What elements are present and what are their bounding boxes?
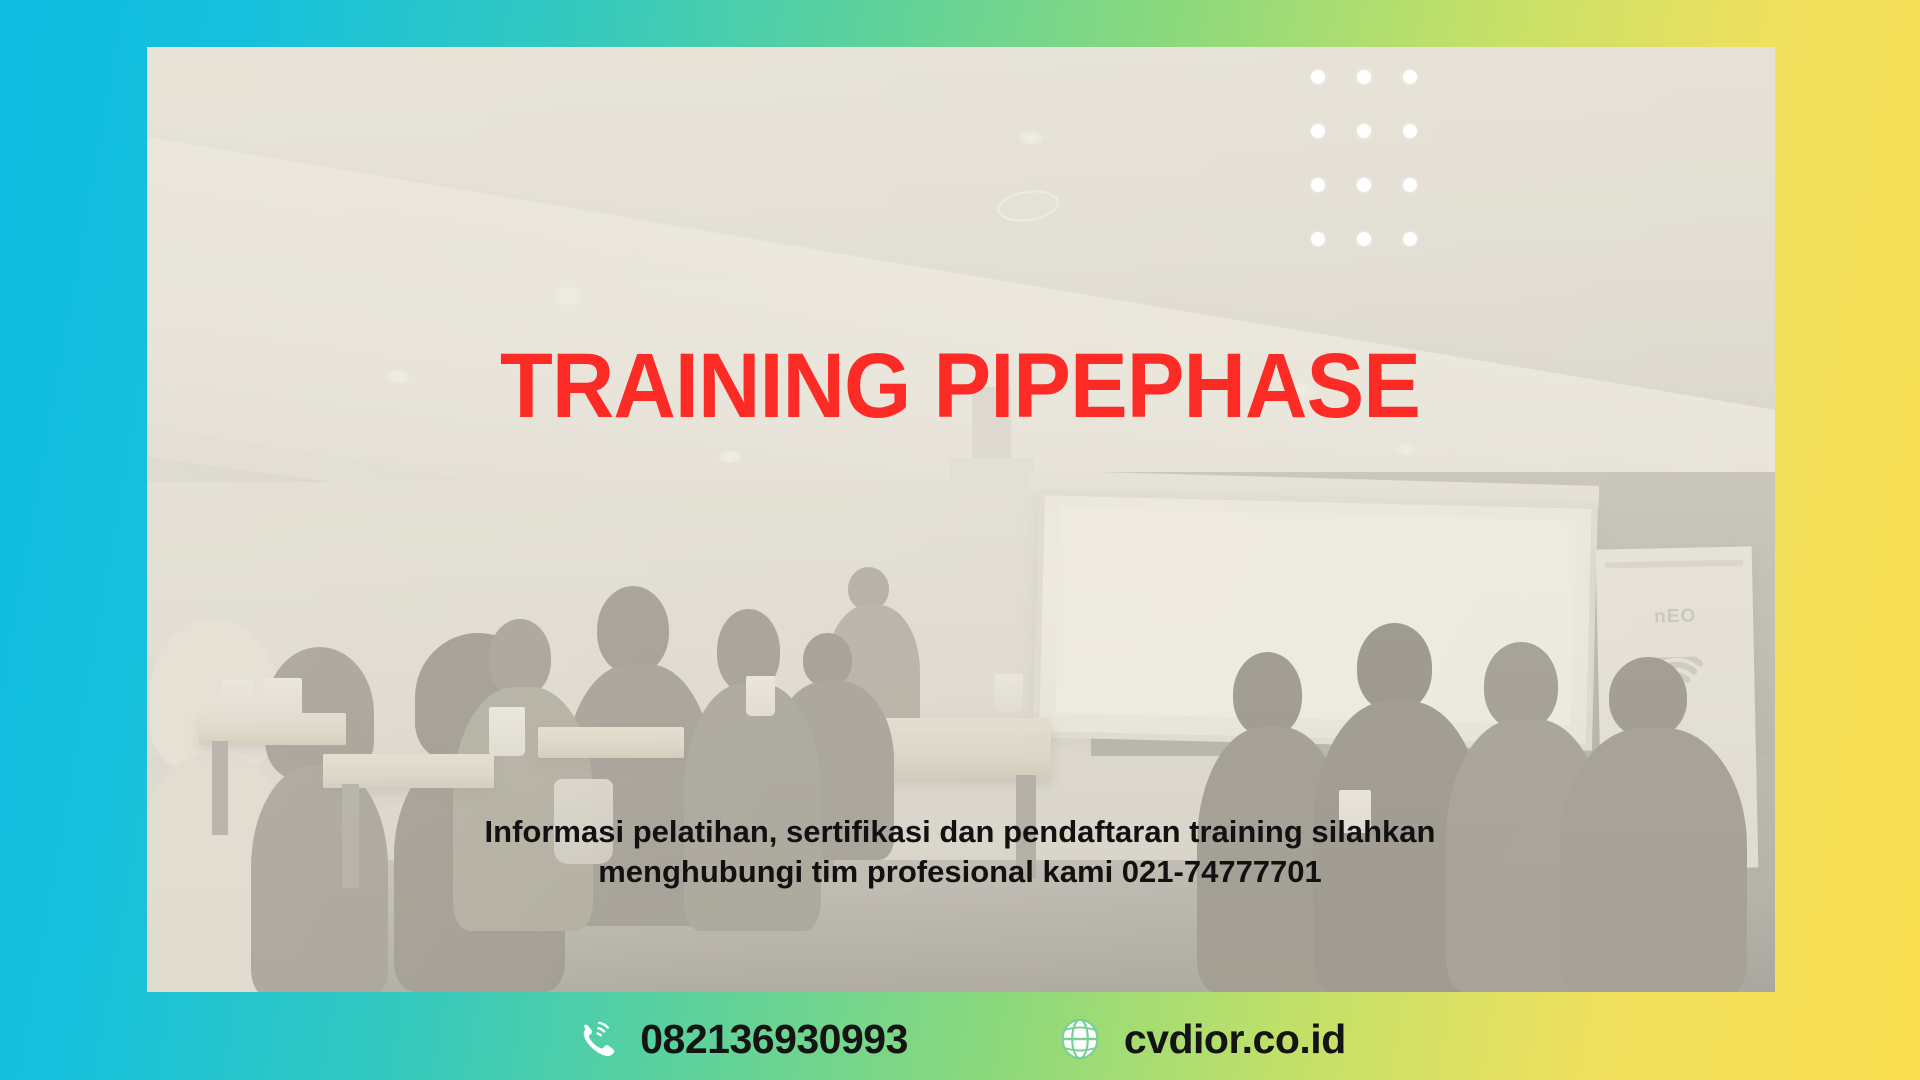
contact-phone[interactable]: 082136930993 <box>574 1016 908 1063</box>
projector <box>950 458 1035 490</box>
attendee-right-4 <box>1560 657 1747 992</box>
attendee-body <box>1560 728 1747 992</box>
attendee-head <box>597 586 669 674</box>
audience-table <box>538 727 685 757</box>
globe-icon <box>1058 1017 1102 1061</box>
drinking-glass <box>746 676 775 716</box>
attendee-head <box>1357 623 1432 711</box>
audience-table <box>323 754 494 788</box>
poster-canvas: nEO WIFI Meeting Room PASSWORD meetingne… <box>0 0 1920 1080</box>
drinking-glass <box>994 674 1023 712</box>
page-title: TRAINING PIPEPHASE <box>58 340 1863 432</box>
decor-dot <box>1311 178 1325 192</box>
decor-dot <box>1403 232 1417 246</box>
decor-dot <box>1311 232 1325 246</box>
drinking-glass <box>264 678 301 718</box>
downlight <box>1394 444 1418 455</box>
decor-dot <box>1403 124 1417 138</box>
attendee-head <box>1233 652 1302 737</box>
body-copy-line-1: Informasi pelatihan, sertifikasi dan pen… <box>455 812 1465 852</box>
attendee-head <box>1484 642 1557 729</box>
downlight <box>551 287 585 305</box>
decor-dot <box>1403 70 1417 84</box>
attendee-head <box>489 619 551 697</box>
dot-grid-decoration <box>1311 70 1417 246</box>
phone-number: 082136930993 <box>640 1016 908 1063</box>
audience-table-leg <box>212 741 228 836</box>
body-copy: Informasi pelatihan, sertifikasi dan pen… <box>455 812 1465 893</box>
attendee-body <box>684 683 821 930</box>
attendee-head <box>1609 657 1688 739</box>
downlight <box>1018 132 1044 144</box>
decor-dot <box>1357 232 1371 246</box>
decor-dot <box>1357 178 1371 192</box>
presenter-head <box>848 567 889 610</box>
attendee-body <box>251 766 388 992</box>
decor-dot <box>1311 70 1325 84</box>
contact-website[interactable]: cvdior.co.id <box>1058 1016 1346 1063</box>
contact-footer: 082136930993 cvdior.co.id <box>0 1000 1920 1078</box>
website-url: cvdior.co.id <box>1124 1016 1346 1063</box>
signboard-bar <box>1605 559 1743 568</box>
decor-dot <box>1357 124 1371 138</box>
decor-dot <box>1403 178 1417 192</box>
phone-ringing-icon <box>574 1017 618 1061</box>
decor-dot <box>1311 124 1325 138</box>
drinking-glass <box>489 707 525 756</box>
decor-dot <box>1357 70 1371 84</box>
audience-table-leg <box>342 784 358 888</box>
signboard-brand: nEO <box>1597 604 1754 629</box>
body-copy-line-2: menghubungi tim profesional kami 021-747… <box>455 852 1465 892</box>
drinking-glass <box>222 680 255 718</box>
